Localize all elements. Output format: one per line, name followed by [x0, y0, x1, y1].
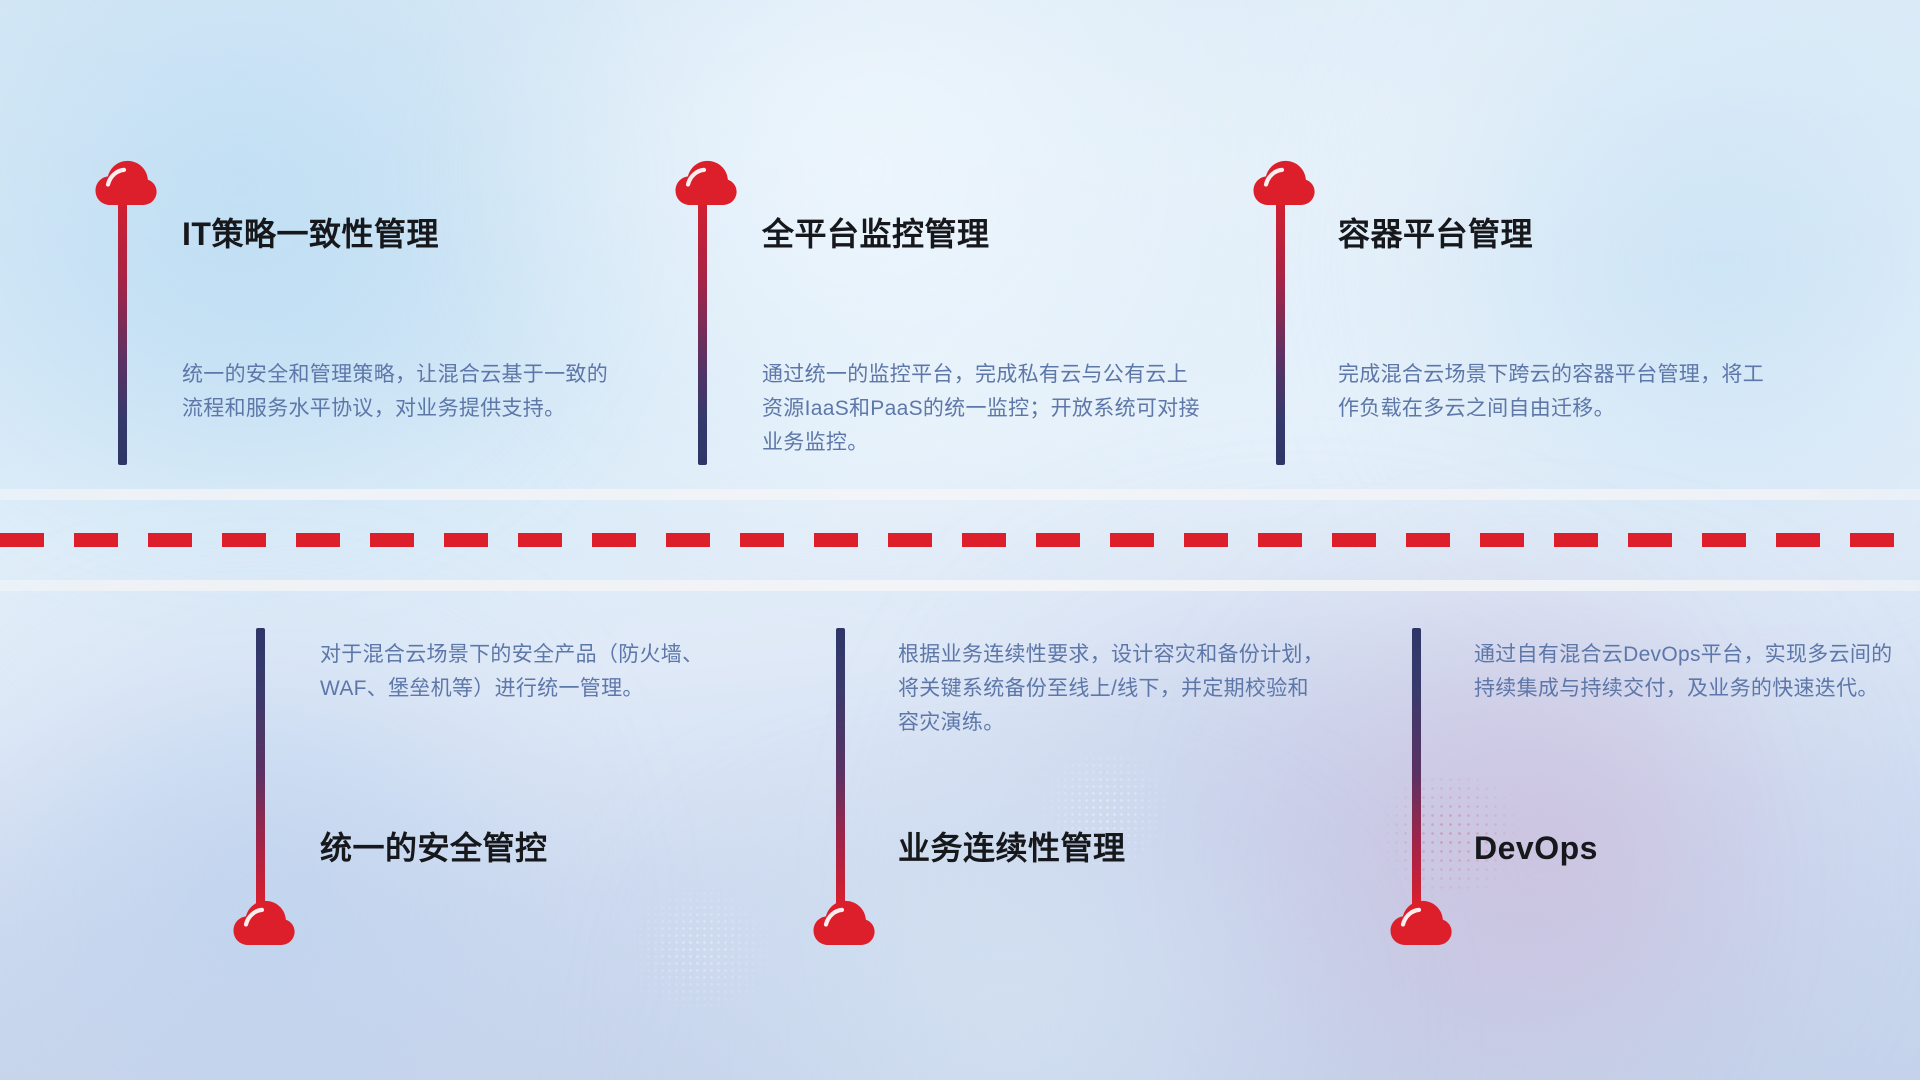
timeline-item-description: 根据业务连续性要求，设计容灾和备份计划，将关键系统备份至线上/线下，并定期校验和…	[898, 638, 1328, 740]
timeline-item-description: 对于混合云场景下的安全产品（防火墙、WAF、堡垒机等）进行统一管理。	[320, 638, 750, 706]
timeline-stem	[118, 185, 127, 465]
timeline-item-description: 统一的安全和管理策略，让混合云基于一致的流程和服务水平协议，对业务提供支持。	[182, 358, 612, 426]
timeline-item-title: 容器平台管理	[1338, 218, 1533, 250]
timeline-board: IT策略一致性管理 统一的安全和管理策略，让混合云基于一致的流程和服务水平协议，…	[0, 0, 1920, 1080]
cloud-icon	[1390, 900, 1452, 946]
cloud-icon	[1253, 160, 1315, 206]
cloud-icon	[95, 160, 157, 206]
timeline-item-title: IT策略一致性管理	[182, 218, 439, 250]
cloud-icon	[675, 160, 737, 206]
timeline-item-title: 业务连续性管理	[898, 832, 1126, 864]
timeline-stem	[1412, 628, 1421, 908]
timeline-item-description: 通过统一的监控平台，完成私有云与公有云上资源IaaS和PaaS的统一监控；开放系…	[762, 358, 1202, 460]
timeline-stem	[256, 628, 265, 908]
cloud-icon	[813, 900, 875, 946]
timeline-stem	[1276, 185, 1285, 465]
timeline-stem	[836, 628, 845, 908]
cloud-icon	[233, 900, 295, 946]
timeline-item-title: 统一的安全管控	[320, 832, 548, 864]
timeline-item-title: 全平台监控管理	[762, 218, 990, 250]
timeline-stem	[698, 185, 707, 465]
timeline-item-description: 完成混合云场景下跨云的容器平台管理，将工作负载在多云之间自由迁移。	[1338, 358, 1778, 426]
timeline-item-description: 通过自有混合云DevOps平台，实现多云间的持续集成与持续交付，及业务的快速迭代…	[1474, 638, 1904, 706]
timeline-item-title: DevOps	[1474, 832, 1598, 864]
